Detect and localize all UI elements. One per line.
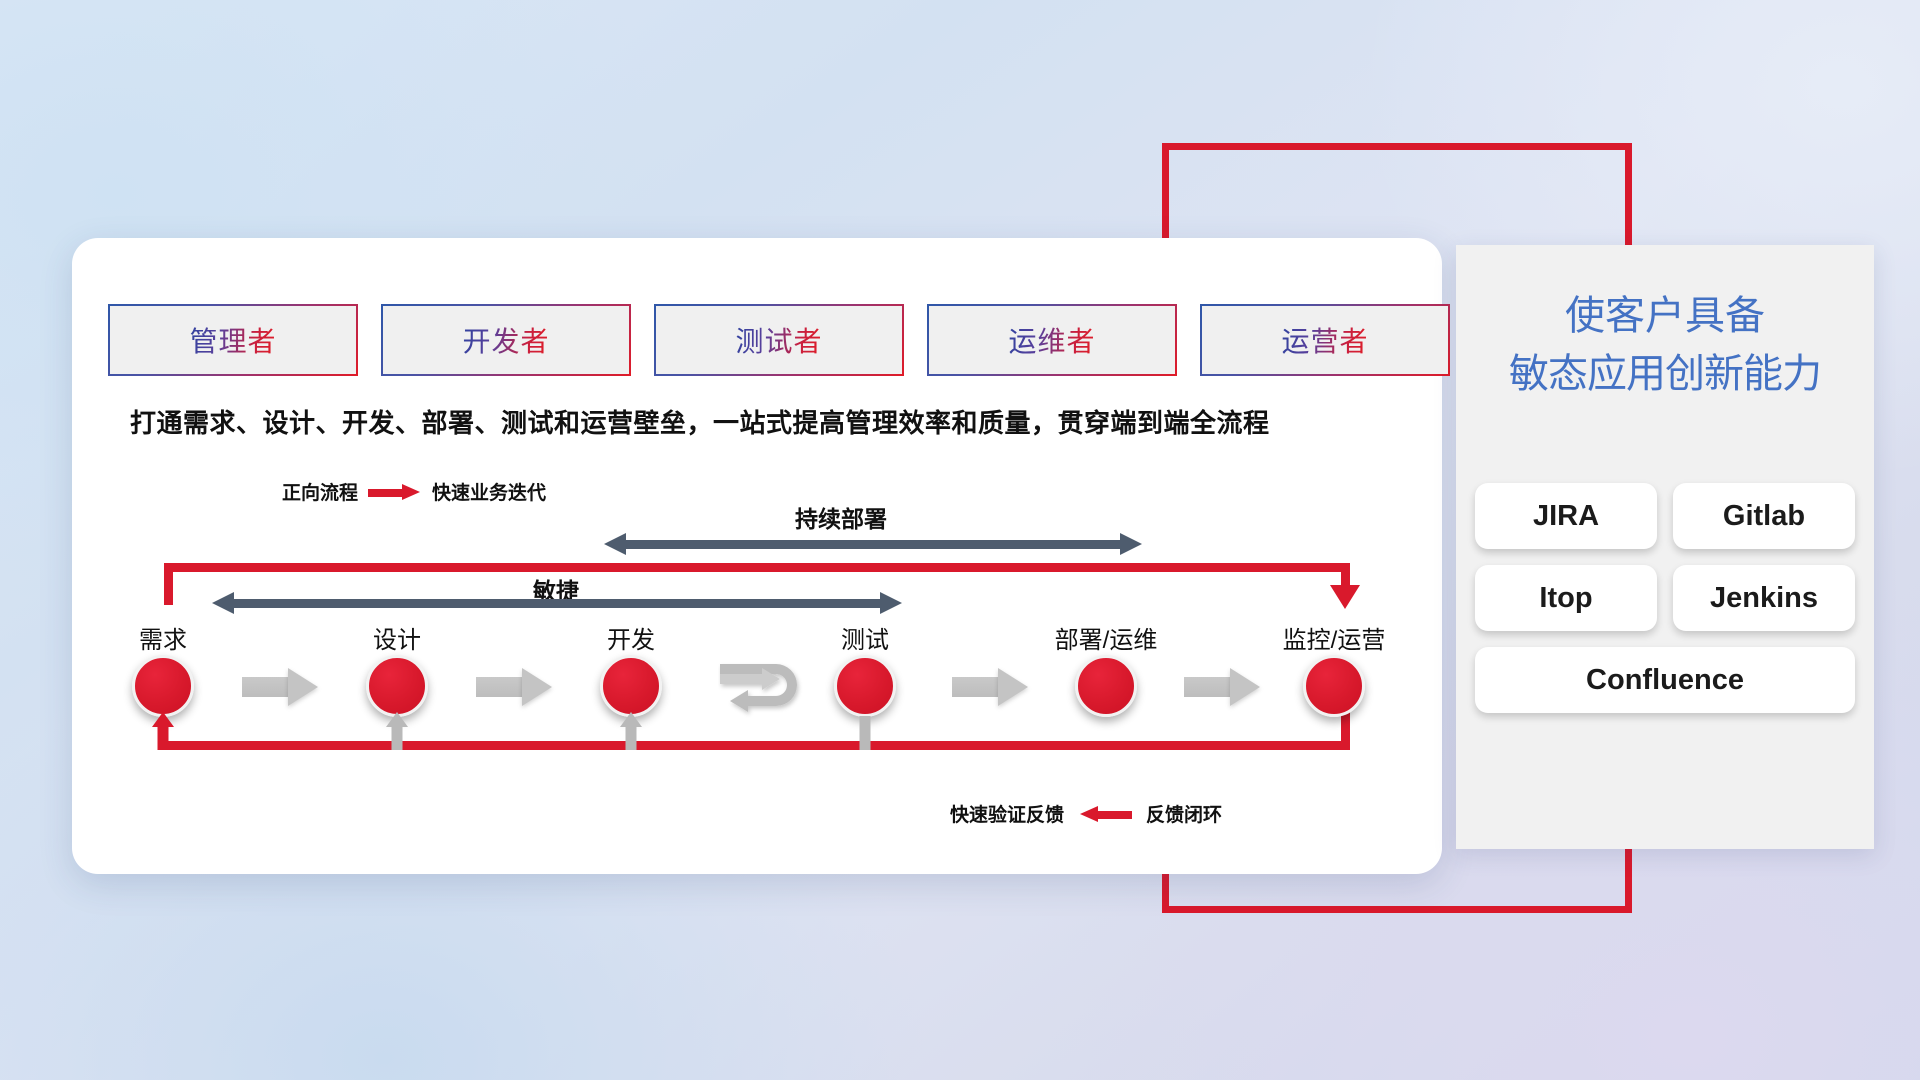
stage-label-requirement: 需求 xyxy=(139,620,187,655)
tool-chip-gitlab[interactable]: Gitlab xyxy=(1673,483,1855,549)
connector-frame-bottom xyxy=(1162,906,1632,913)
span-arrow-agile xyxy=(212,592,902,614)
arrow-head-right-icon xyxy=(998,668,1028,706)
role-box-ops[interactable]: 运维者 xyxy=(929,306,1175,374)
span-arrow-continuous-deployment xyxy=(604,533,1142,555)
stage-node-deploy-ops[interactable] xyxy=(1075,655,1137,717)
description-text: 打通需求、设计、开发、部署、测试和运营壁垒，一站式提高管理效率和质量，贯穿端到端… xyxy=(130,403,1430,440)
tool-chip-confluence[interactable]: Confluence xyxy=(1475,647,1855,713)
flow-arrow-deploy-to-monitor xyxy=(1184,668,1260,706)
arrow-head-right-icon xyxy=(1120,533,1142,555)
red-loop-arrow-down-icon xyxy=(1330,585,1360,609)
legend-feedback-loop: 快速验证反馈 反馈闭环 xyxy=(950,800,1222,827)
red-loop-top-bar xyxy=(164,563,1350,572)
stage-node-requirement[interactable] xyxy=(132,655,194,717)
arrow-head-right-icon xyxy=(288,668,318,706)
stage-node-monitor-run[interactable] xyxy=(1303,655,1365,717)
red-loop-bottom-bar xyxy=(164,741,1350,750)
role-label: 开发者 xyxy=(462,320,549,360)
feedback-feeder-test xyxy=(860,716,871,750)
legend-feedback-right-label: 反馈闭环 xyxy=(1146,800,1222,827)
stage-label-deploy-ops: 部署/运维 xyxy=(1055,620,1158,655)
arrow-shaft xyxy=(952,677,1000,697)
arrow-head-right-icon xyxy=(522,668,552,706)
arrow-head-right-icon xyxy=(880,592,902,614)
feedback-feeder-design xyxy=(392,726,403,750)
arrow-shaft xyxy=(242,677,290,697)
stage-label-design: 设计 xyxy=(373,620,421,655)
arrow-shaft xyxy=(1184,677,1232,697)
legend-forward-to-label: 快速业务迭代 xyxy=(432,478,546,505)
feedback-feeder-requirement xyxy=(158,726,169,750)
iteration-loop-icon xyxy=(718,660,806,718)
flow-arrow-design-to-develop xyxy=(476,668,552,706)
arrow-left-red-icon xyxy=(1078,808,1132,819)
stage-node-test[interactable] xyxy=(834,655,896,717)
tool-chip-label: Confluence xyxy=(1586,664,1744,697)
value-panel: 使客户具备 敏态应用创新能力 JIRA Gitlab Itop Jenkins … xyxy=(1456,245,1874,849)
role-box-manager[interactable]: 管理者 xyxy=(110,306,356,374)
slide-canvas: 管理者 开发者 测试者 运维者 运营者 打通需求、设计、开发、部署、测试和运营壁… xyxy=(0,0,1920,1080)
panel-title-line2: 敏态应用创新能力 xyxy=(1456,345,1874,403)
arrow-head-right-icon xyxy=(1230,668,1260,706)
arrow-head-left-icon xyxy=(604,533,626,555)
connector-frame-top xyxy=(1162,143,1632,150)
span-label-continuous-deployment: 持续部署 xyxy=(795,500,887,534)
legend-forward-flow: 正向流程 快速业务迭代 xyxy=(282,478,546,505)
arrow-head-left-icon xyxy=(212,592,234,614)
flow-arrow-test-to-deploy xyxy=(952,668,1028,706)
tool-chip-itop[interactable]: Itop xyxy=(1475,565,1657,631)
feedback-feeder-develop xyxy=(626,726,637,750)
feedback-feeder-develop-head-icon xyxy=(620,712,642,727)
stage-label-test: 测试 xyxy=(841,620,889,655)
tool-chip-label: Itop xyxy=(1539,582,1592,615)
arrow-right-red-icon xyxy=(368,486,422,497)
legend-forward-from-label: 正向流程 xyxy=(282,478,358,505)
tool-chip-label: Jenkins xyxy=(1710,582,1818,615)
flow-arrow-requirement-to-design xyxy=(242,668,318,706)
tool-chip-label: JIRA xyxy=(1533,500,1599,533)
role-box-operator[interactable]: 运营者 xyxy=(1202,306,1448,374)
panel-title-line1: 使客户具备 xyxy=(1565,294,1765,338)
red-loop-left-bar xyxy=(164,563,173,605)
tool-chip-label: Gitlab xyxy=(1723,500,1805,533)
legend-feedback-left-label: 快速验证反馈 xyxy=(950,800,1064,827)
role-box-tester[interactable]: 测试者 xyxy=(656,306,902,374)
stage-label-monitor-run: 监控/运营 xyxy=(1283,620,1386,655)
stage-node-design[interactable] xyxy=(366,655,428,717)
role-label: 测试者 xyxy=(735,320,822,360)
arrow-shaft xyxy=(624,540,1122,549)
arrow-shaft xyxy=(232,599,882,608)
role-label: 运维者 xyxy=(1008,320,1095,360)
feedback-feeder-requirement-head-icon xyxy=(152,712,174,727)
feedback-feeder-design-head-icon xyxy=(386,712,408,727)
stage-node-develop[interactable] xyxy=(600,655,662,717)
role-box-developer[interactable]: 开发者 xyxy=(383,306,629,374)
role-box-row: 管理者 开发者 测试者 运维者 运营者 xyxy=(110,306,1448,374)
stage-label-develop: 开发 xyxy=(607,620,655,655)
role-label: 运营者 xyxy=(1281,320,1368,360)
tool-chip-jira[interactable]: JIRA xyxy=(1475,483,1657,549)
role-label: 管理者 xyxy=(189,320,276,360)
tool-chip-jenkins[interactable]: Jenkins xyxy=(1673,565,1855,631)
panel-title: 使客户具备 敏态应用创新能力 xyxy=(1456,287,1874,403)
arrow-shaft xyxy=(476,677,524,697)
tool-chip-list: JIRA Gitlab Itop Jenkins Confluence xyxy=(1468,483,1862,713)
